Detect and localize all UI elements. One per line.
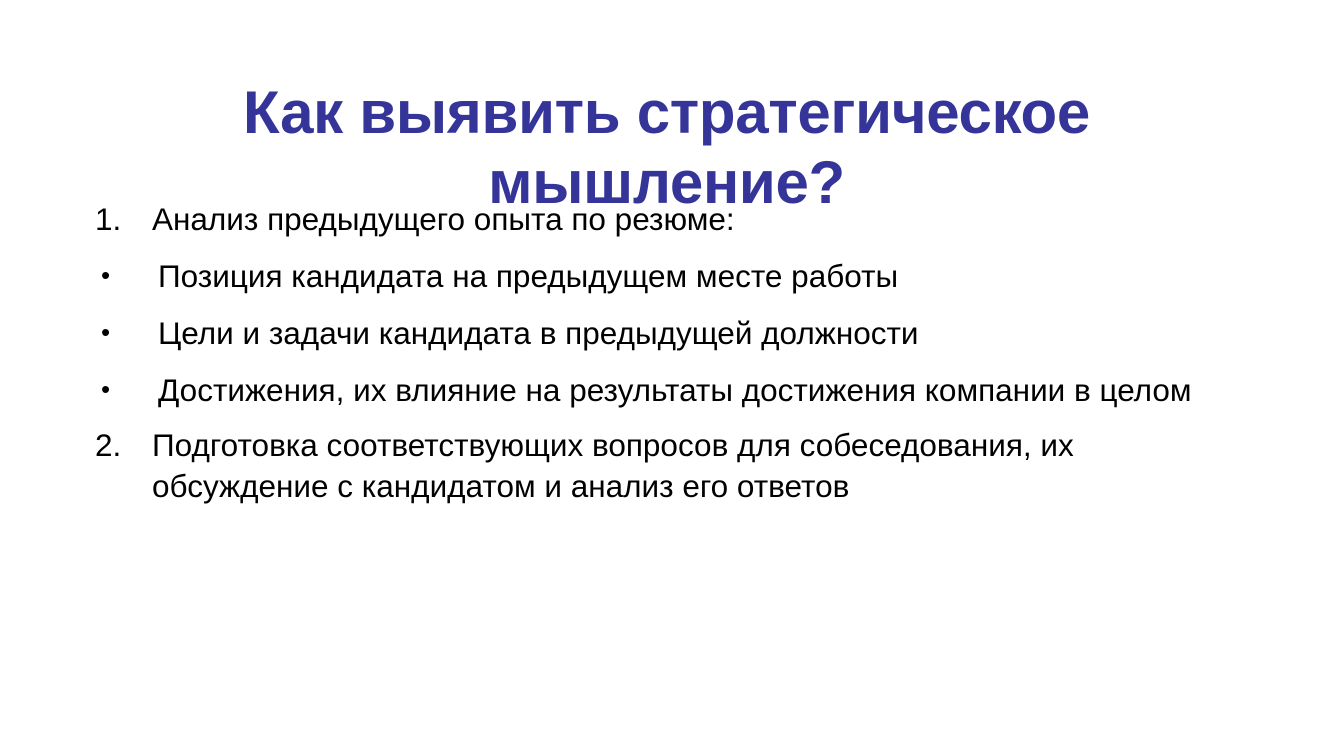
slide: Как выявить стратегическое мышление? 1. … (0, 0, 1333, 750)
list-item: • Цели и задачи кандидата в предыдущей д… (95, 313, 1255, 354)
list-item: 2. Подготовка соответствующих вопросов д… (95, 425, 1255, 507)
list-item-text: Позиция кандидата на предыдущем месте ра… (158, 256, 1255, 297)
list-marker-number: 2. (95, 425, 152, 466)
list-item-text: Анализ предыдущего опыта по резюме: (152, 199, 1255, 240)
list-marker-bullet: • (95, 313, 158, 353)
list-item: 1. Анализ предыдущего опыта по резюме: (95, 199, 1255, 240)
page-title: Как выявить стратегическое мышление? (100, 78, 1233, 217)
list-item-text: Подготовка соответствующих вопросов для … (152, 425, 1255, 507)
list-item: • Достижения, их влияние на результаты д… (95, 370, 1255, 411)
list-marker-bullet: • (95, 370, 158, 410)
list-item: • Позиция кандидата на предыдущем месте … (95, 256, 1255, 297)
list-marker-number: 1. (95, 199, 152, 240)
list-item-text: Цели и задачи кандидата в предыдущей дол… (158, 313, 1255, 354)
content-list: 1. Анализ предыдущего опыта по резюме: •… (95, 199, 1255, 521)
list-item-text: Достижения, их влияние на результаты дос… (158, 370, 1255, 411)
list-marker-bullet: • (95, 256, 158, 296)
